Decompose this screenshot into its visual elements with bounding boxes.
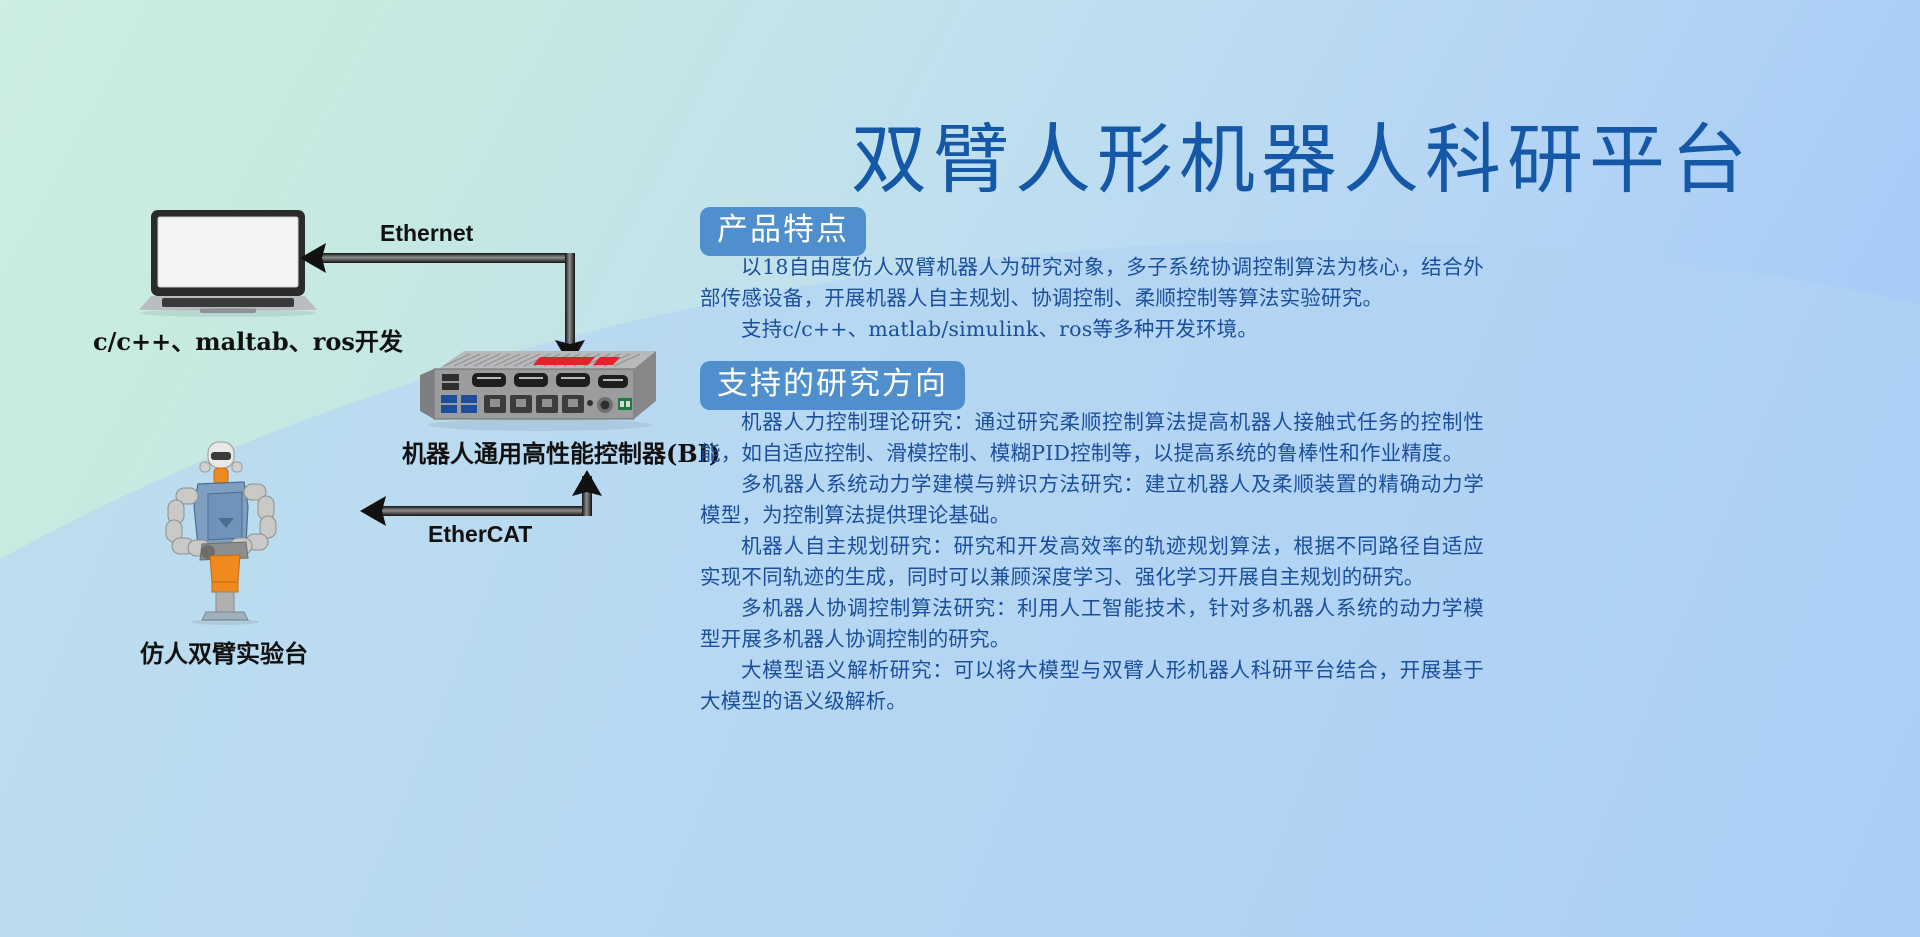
poster-canvas: Ethernet EtherCAT c/c++、maltab、ros开发 机器人… xyxy=(0,0,1920,937)
ethercat-label: EtherCAT xyxy=(428,521,532,548)
section-badge-directions: 支持的研究方向 xyxy=(700,361,965,410)
humanoid-robot-icon xyxy=(150,440,300,625)
direction-paragraph-5: 大模型语义解析研究：可以将大模型与双臂人形机器人科研平台结合，开展基于大模型的语… xyxy=(700,655,1484,717)
page-title: 双臂人形机器人科研平台 xyxy=(684,98,1920,208)
ethernet-label: Ethernet xyxy=(380,220,473,247)
direction-paragraph-3: 机器人自主规划研究：研究和开发高效率的轨迹规划算法，根据不同路径自适应实现不同轨… xyxy=(700,531,1484,593)
direction-paragraph-4: 多机器人协调控制算法研究：利用人工智能技术，针对多机器人系统的动力学模型开展多机… xyxy=(700,593,1484,655)
robot-label: 仿人双臂实验台 xyxy=(140,634,308,669)
direction-paragraph-1: 机器人力控制理论研究：通过研究柔顺控制算法提高机器人接触式任务的控制性能，如自适… xyxy=(700,407,1484,469)
laptop-icon xyxy=(138,210,318,315)
robot-controller-icon xyxy=(420,345,660,435)
direction-paragraph-2: 多机器人系统动力学建模与辨识方法研究：建立机器人及柔顺装置的精确动力学模型，为控… xyxy=(700,469,1484,531)
system-diagram: Ethernet EtherCAT c/c++、maltab、ros开发 机器人… xyxy=(0,0,690,937)
section-badge-features: 产品特点 xyxy=(700,207,866,256)
laptop-label: c/c++、maltab、ros开发 xyxy=(93,322,403,357)
controller-label: 机器人通用高性能控制器(BI) xyxy=(402,434,720,469)
features-paragraph-1: 以18自由度仿人双臂机器人为研究对象，多子系统协调控制算法为核心，结合外部传感设… xyxy=(700,252,1484,314)
features-paragraph-2: 支持c/c++、matlab/simulink、ros等多种开发环境。 xyxy=(700,314,1484,345)
content-column: 双臂人形机器人科研平台 产品特点 以18自由度仿人双臂机器人为研究对象，多子系统… xyxy=(684,0,1920,937)
